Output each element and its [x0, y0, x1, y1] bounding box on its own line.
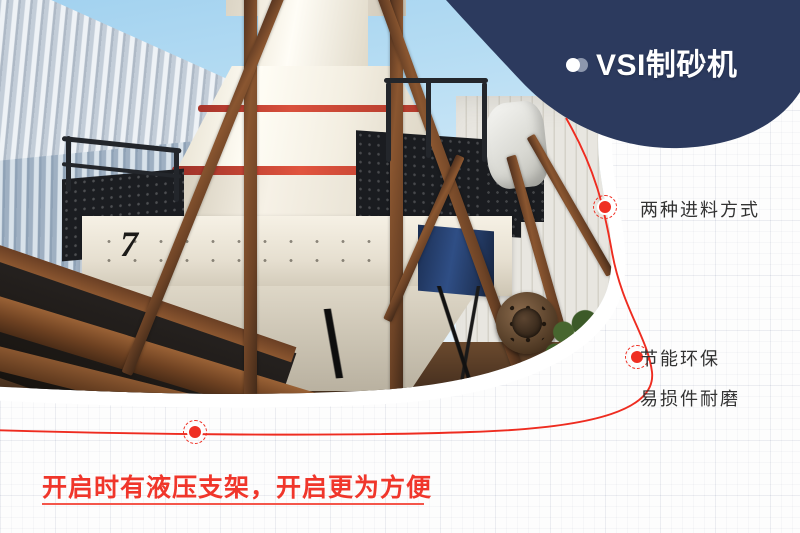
stair-railing-post-3 [482, 82, 487, 162]
stair-railing-post-2 [426, 78, 431, 158]
page-title: VSI制砂机 [596, 40, 737, 84]
stair-railing-top [384, 78, 488, 83]
marker-core [599, 201, 611, 213]
poster-canvas: 7 [0, 0, 800, 533]
stair-railing-post-1 [386, 82, 391, 162]
red-dot-marker-caption [183, 420, 207, 444]
red-dot-marker-feature-1 [593, 195, 617, 219]
feature-label-3: 易损件耐磨 [640, 385, 740, 411]
shrub [542, 304, 614, 374]
marker-core [189, 426, 201, 438]
feature-label-2: 节能环保 [640, 345, 720, 371]
bottom-caption-underline [42, 503, 424, 505]
machine-logo: 7 [112, 224, 146, 264]
bullet-dot-front [566, 58, 580, 72]
feature-label-1: 两种进料方式 [640, 196, 760, 222]
double-dot-bullet-icon [566, 58, 596, 72]
bottom-caption: 开启时有液压支架，开启更为方便 [42, 468, 432, 504]
